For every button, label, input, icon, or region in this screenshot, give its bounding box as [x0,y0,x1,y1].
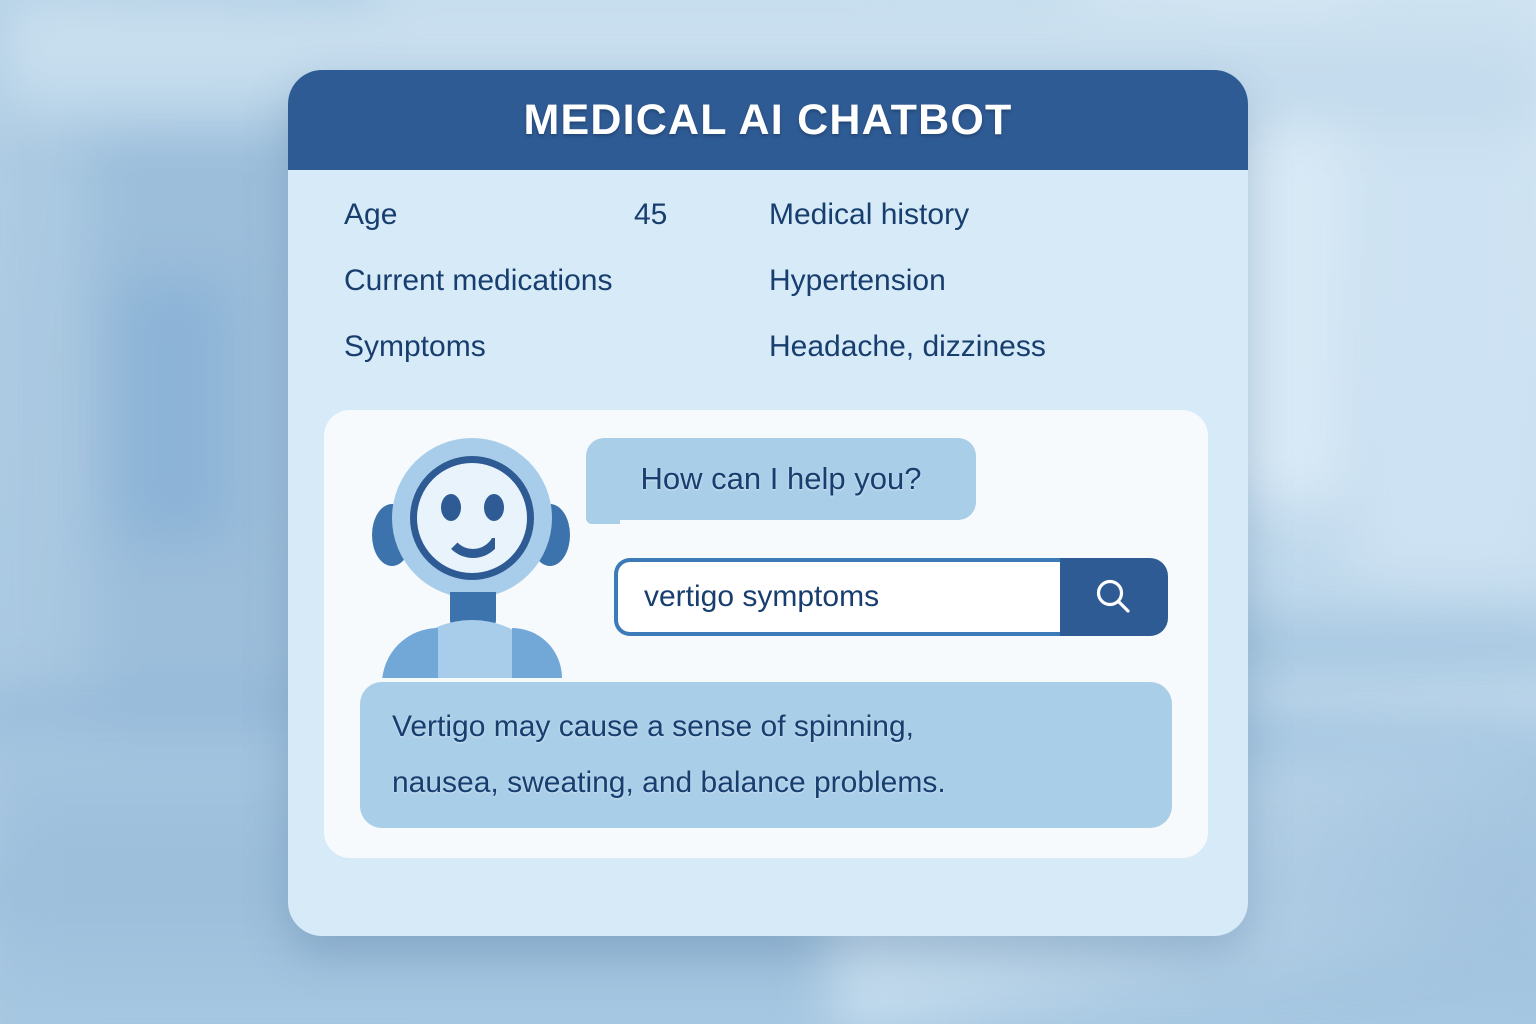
robot-right-eye-icon [484,494,504,521]
field-label-medical-history: Medical history [769,198,1192,232]
backdrop-door-panel [120,280,230,540]
answer-line-1: Vertigo may cause a sense of spinning, [392,699,1140,755]
backdrop-left-handrail [0,700,310,736]
search-icon [1091,574,1137,620]
field-value-symptoms: Headache, dizziness [769,330,1192,364]
answer-bubble: Vertigo may cause a sense of spinning, n… [360,682,1172,828]
robot-avatar-clip [366,432,576,678]
search-button[interactable] [1060,558,1168,636]
medical-chatbot-card: MEDICAL AI CHATBOT Age 45 Medical histor… [288,70,1248,936]
page-title: MEDICAL AI CHATBOT [524,96,1013,145]
robot-face-icon [410,456,534,580]
robot-right-shoulder-icon [512,628,562,678]
field-label-current-medications: Current medications [344,264,634,298]
field-label-symptoms: Symptoms [344,330,634,364]
field-value-age: 45 [634,198,769,232]
greeting-text: How can I help you? [641,461,922,497]
avatar [366,432,576,672]
search-input[interactable]: vertigo symptoms [614,558,1060,636]
robot-left-eye-icon [441,494,461,521]
patient-field-row: Symptoms Headache, dizziness [344,330,1192,396]
search-row: vertigo symptoms [614,558,1168,636]
field-label-age: Age [344,198,634,232]
answer-line-2: nausea, sweating, and balance problems. [392,755,1140,811]
patient-field-row: Current medications Hypertension [344,264,1192,330]
patient-field-row: Age 45 Medical history [344,198,1192,264]
greeting-bubble: How can I help you? [586,438,976,520]
field-value-medical-history: Hypertension [769,264,1192,298]
chat-panel: How can I help you? vertigo symptoms Ver… [324,410,1208,858]
robot-left-shoulder-icon [382,628,438,678]
patient-fields: Age 45 Medical history Current medicatio… [288,170,1248,396]
card-header: MEDICAL AI CHATBOT [288,70,1248,170]
